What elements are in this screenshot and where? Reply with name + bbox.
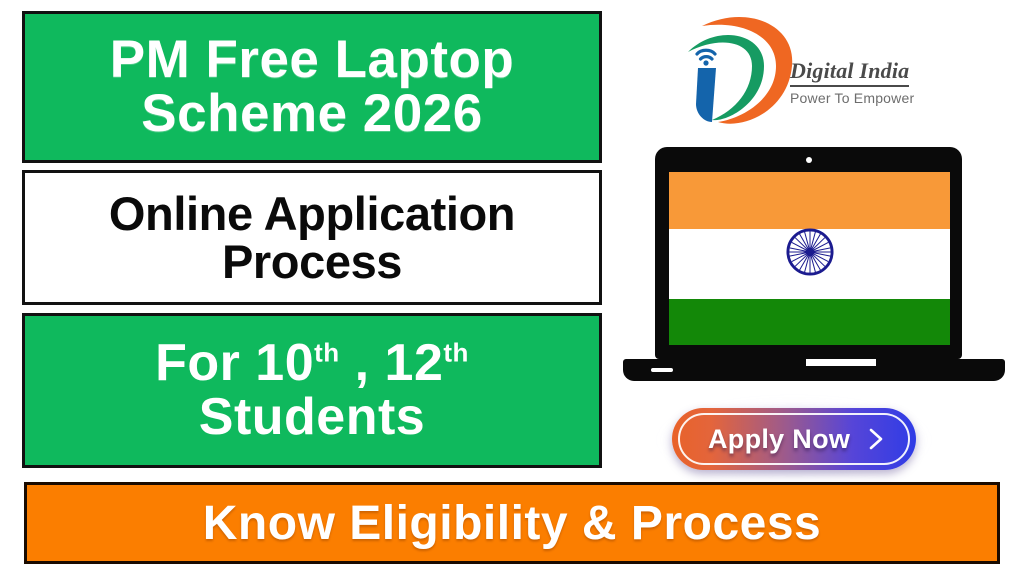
subtitle-line-2: Process	[109, 238, 515, 286]
subtitle-panel: Online Application Process	[22, 170, 602, 305]
laptop-webcam-icon	[806, 157, 812, 163]
eligibility-line-2: Students	[155, 391, 469, 444]
digital-india-tagline: Power To Empower	[790, 90, 960, 106]
footer-text: Know Eligibility & Process	[203, 496, 821, 551]
eligibility-separator: , 12	[340, 334, 444, 392]
eligibility-class-12-suffix: th	[443, 338, 469, 368]
eligibility-line-1: For 10th , 12th	[155, 334, 469, 392]
eligibility-class-10-suffix: th	[314, 338, 340, 368]
laptop-base-notch	[806, 359, 876, 366]
title-text: PM Free Laptop Scheme 2026	[100, 33, 525, 141]
title-panel: PM Free Laptop Scheme 2026	[22, 11, 602, 163]
flag-band-saffron	[669, 172, 950, 229]
apply-now-label: Apply Now	[708, 424, 850, 455]
ashoka-chakra-icon	[786, 228, 834, 276]
laptop-base	[623, 359, 1005, 381]
eligibility-text: For 10th , 12th Students	[147, 337, 477, 443]
poster-canvas: PM Free Laptop Scheme 2026 Online Applic…	[0, 0, 1024, 576]
digital-india-emblem-icon	[672, 10, 804, 130]
subtitle-line-1: Online Application	[109, 187, 515, 240]
chevron-right-icon	[868, 427, 884, 451]
eligibility-class-10-label: For 10	[155, 334, 314, 392]
title-line-2: Scheme 2026	[110, 87, 515, 141]
footer-banner: Know Eligibility & Process	[24, 482, 1000, 564]
laptop-base-indicator	[651, 368, 673, 372]
laptop-illustration	[615, 140, 1015, 390]
flag-band-green	[669, 299, 950, 345]
title-line-1: PM Free Laptop	[110, 30, 515, 89]
eligibility-panel: For 10th , 12th Students	[22, 313, 602, 468]
subtitle-text: Online Application Process	[101, 190, 523, 286]
apply-now-button[interactable]: Apply Now	[672, 408, 916, 470]
digital-india-wordmark: Digital India Power To Empower	[790, 58, 960, 106]
digital-india-title: Digital India	[790, 58, 909, 87]
laptop-screen-indian-flag	[669, 172, 950, 345]
laptop-lid	[655, 147, 962, 359]
digital-india-logo: Digital India Power To Empower	[672, 10, 957, 130]
apply-now-container: Apply Now	[655, 398, 935, 484]
